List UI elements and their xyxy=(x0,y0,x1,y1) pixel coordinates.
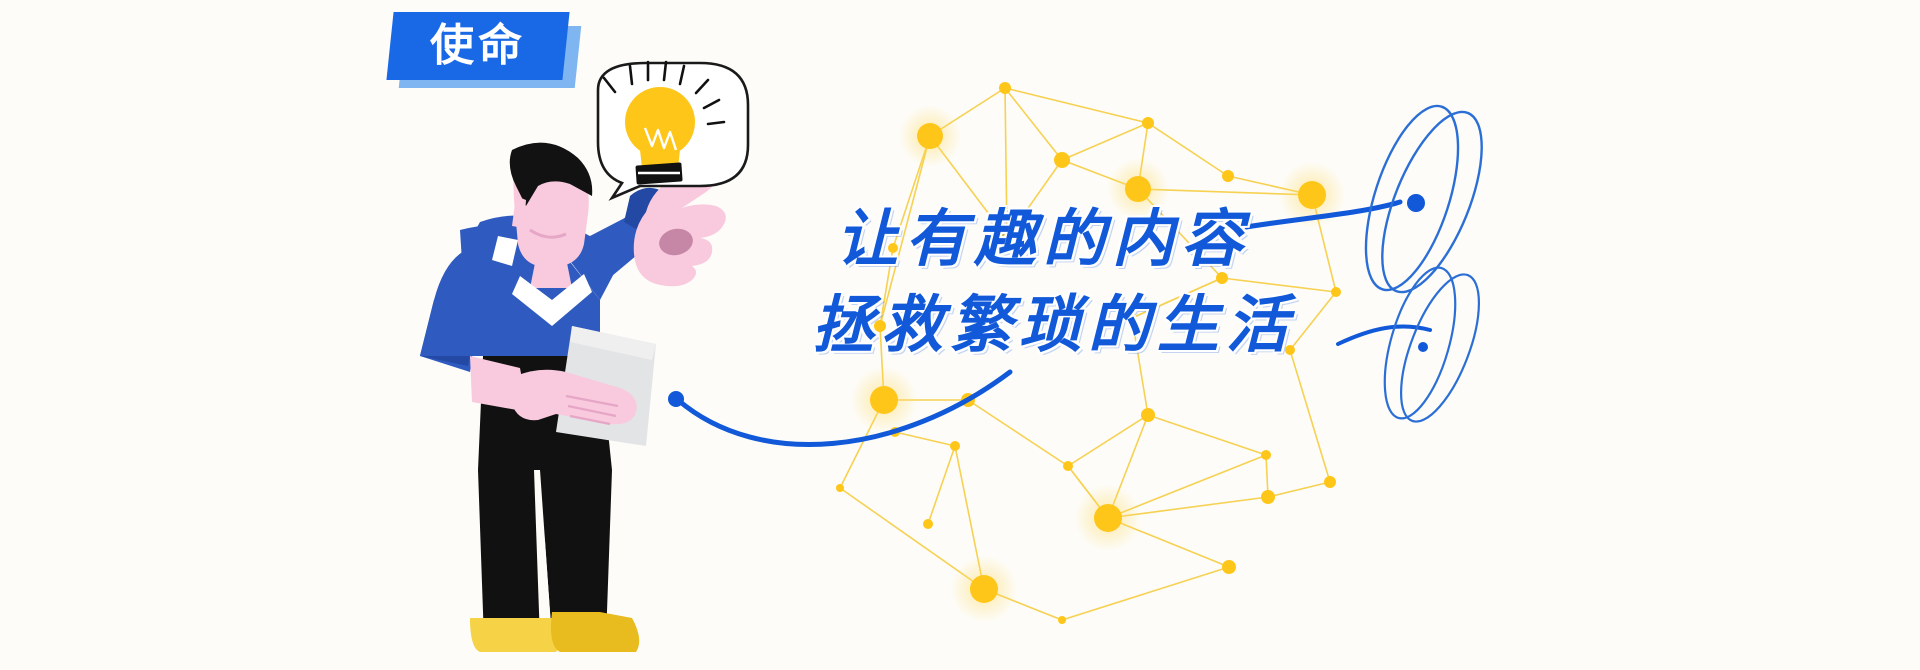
network-edge xyxy=(1068,415,1148,466)
network-edge xyxy=(984,589,1062,620)
character-collar xyxy=(512,258,592,326)
network-edge xyxy=(1108,415,1148,518)
network-node xyxy=(836,484,844,492)
network-node-glow xyxy=(1074,484,1141,551)
network-edge xyxy=(895,400,968,432)
character-shirt xyxy=(420,210,660,372)
network-edge xyxy=(1108,518,1229,567)
network-edge xyxy=(1148,415,1266,455)
network-node xyxy=(1324,476,1336,488)
network-node xyxy=(970,575,998,603)
character-head xyxy=(510,143,592,266)
network-node xyxy=(1222,170,1234,182)
network-edge xyxy=(1068,466,1108,518)
network-node-glow xyxy=(899,105,961,167)
character-pointing-hand xyxy=(634,168,726,286)
lightbulb-icon xyxy=(604,62,724,185)
mission-badge[interactable]: 使命 xyxy=(390,12,575,94)
network-node xyxy=(950,441,960,451)
network-edge xyxy=(1290,350,1330,482)
blue-swoosh-curve xyxy=(668,372,1010,445)
network-edge xyxy=(1148,123,1228,176)
network-edge xyxy=(1062,123,1148,160)
network-node-glow xyxy=(850,366,917,433)
network-node xyxy=(923,519,933,529)
network-node xyxy=(1142,117,1154,129)
network-edge xyxy=(840,400,884,488)
network-edge xyxy=(1005,88,1148,123)
mission-badge-fill: 使命 xyxy=(386,12,569,80)
network-node xyxy=(961,393,975,407)
network-edge xyxy=(840,488,984,589)
network-edge xyxy=(1138,189,1312,195)
network-node xyxy=(1063,461,1073,471)
network-edge xyxy=(968,400,1068,466)
network-node xyxy=(870,386,898,414)
network-edge xyxy=(1138,123,1148,189)
character-shoes xyxy=(470,612,639,652)
network-edge xyxy=(928,446,955,524)
mission-badge-label: 使命 xyxy=(430,24,526,68)
network-edge xyxy=(1005,88,1062,160)
network-node xyxy=(890,427,900,437)
network-edge xyxy=(1228,176,1312,195)
lightbulb-rays xyxy=(604,62,724,124)
network-edge xyxy=(1062,160,1138,189)
network-edge xyxy=(1062,567,1229,620)
network-node xyxy=(1261,450,1271,460)
network-edge xyxy=(955,446,984,589)
network-edge xyxy=(1268,482,1330,497)
network-edge xyxy=(1068,466,1108,518)
headline-line-1: 让有趣的内容 xyxy=(836,196,1516,282)
character-pants xyxy=(478,355,612,640)
network-edge xyxy=(930,88,1005,136)
network-node xyxy=(1261,490,1275,504)
network-node xyxy=(1094,504,1122,532)
network-node xyxy=(1222,560,1236,574)
network-node xyxy=(999,82,1011,94)
network-node xyxy=(1058,616,1066,624)
network-node xyxy=(917,123,943,149)
network-edge xyxy=(1266,455,1268,497)
headline-line-2: 拯救繁琐的生活 xyxy=(812,282,1516,368)
tablet-device xyxy=(556,326,656,446)
network-node-glow xyxy=(950,555,1017,622)
character-pointing-arm xyxy=(544,188,672,276)
speech-bubble-shape xyxy=(598,63,748,198)
network-edge xyxy=(1108,455,1266,518)
network-node xyxy=(1054,152,1070,168)
mission-banner: 使命 让有趣的内容 拯救繁琐的生活 xyxy=(0,0,1920,670)
network-edge xyxy=(1108,497,1268,518)
character-holding-hand xyxy=(470,356,637,424)
headline-block: 让有趣的内容 拯救繁琐的生活 xyxy=(836,196,1516,368)
network-node xyxy=(1141,408,1155,422)
network-edge xyxy=(895,432,955,446)
